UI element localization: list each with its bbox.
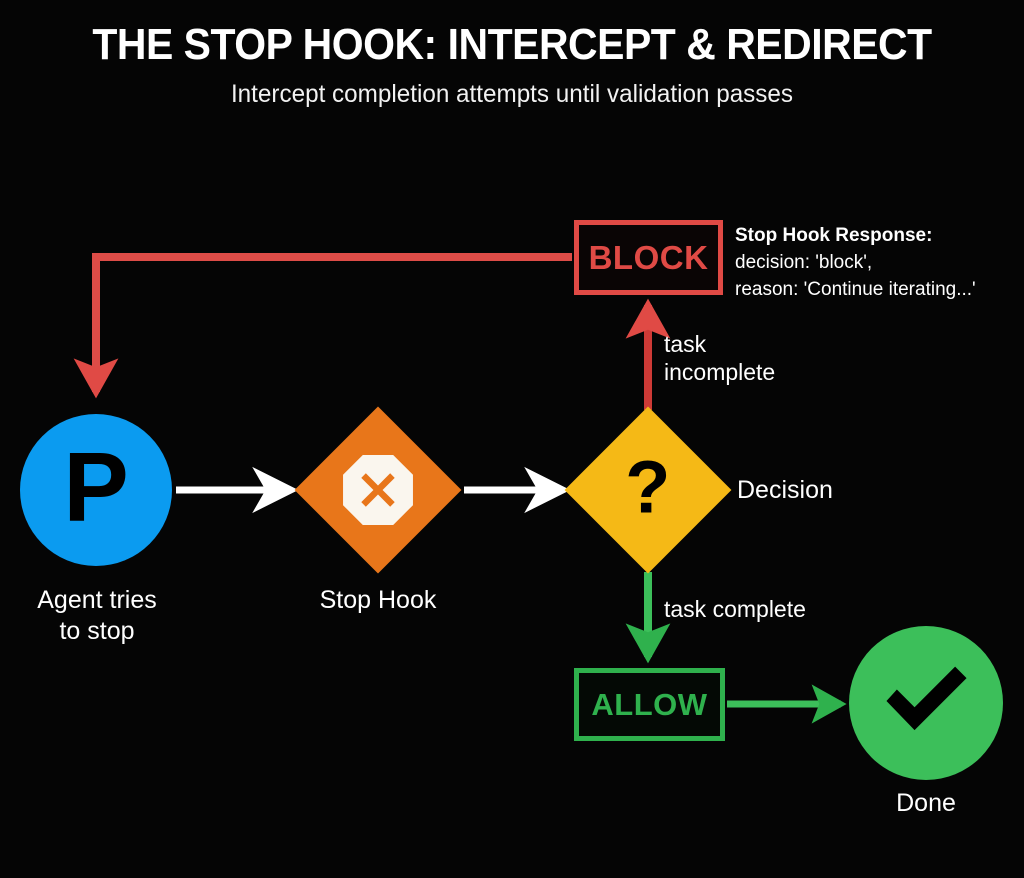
edge-label-task-incomplete: task incomplete: [664, 330, 775, 386]
allow-label: ALLOW: [591, 687, 707, 723]
stop-hook-caption: Stop Hook: [282, 585, 474, 616]
annotation-title: Stop Hook Response:: [735, 223, 1024, 250]
decision-label: Decision: [737, 475, 833, 506]
stop-hook-node[interactable]: [295, 407, 461, 573]
page-title: THE STOP HOOK: INTERCEPT & REDIRECT: [36, 0, 988, 68]
header: THE STOP HOOK: INTERCEPT & REDIRECT Inte…: [0, 0, 1024, 109]
diagram-canvas: THE STOP HOOK: INTERCEPT & REDIRECT Inte…: [0, 0, 1024, 878]
checkmark-icon: [874, 649, 978, 758]
done-caption: Done: [849, 788, 1003, 819]
block-label: BLOCK: [589, 239, 709, 277]
annotation-line-2: reason: 'Continue iterating...': [735, 277, 1024, 304]
annotation-line-1: decision: 'block',: [735, 250, 1024, 277]
block-box[interactable]: BLOCK: [574, 220, 723, 295]
decision-glyph: ?: [625, 451, 670, 525]
agent-glyph: P: [63, 438, 128, 536]
octagon-x-icon: [340, 452, 416, 528]
page-subtitle: Intercept completion attempts until vali…: [15, 68, 1008, 109]
question-mark-icon: ?: [625, 455, 670, 525]
edge-label-task-complete: task complete: [664, 595, 806, 623]
allow-box[interactable]: ALLOW: [574, 668, 725, 741]
agent-caption: Agent tries to stop: [0, 585, 194, 648]
decision-node[interactable]: ?: [565, 407, 731, 573]
edge-block-to-agent: [96, 257, 572, 392]
stop-hook-diamond: [295, 407, 462, 574]
done-circle[interactable]: [849, 626, 1003, 780]
stop-hook-response-annotation: Stop Hook Response: decision: 'block', r…: [735, 223, 1024, 304]
agent-circle-icon[interactable]: P: [20, 414, 172, 566]
decision-diamond: ?: [565, 407, 732, 574]
